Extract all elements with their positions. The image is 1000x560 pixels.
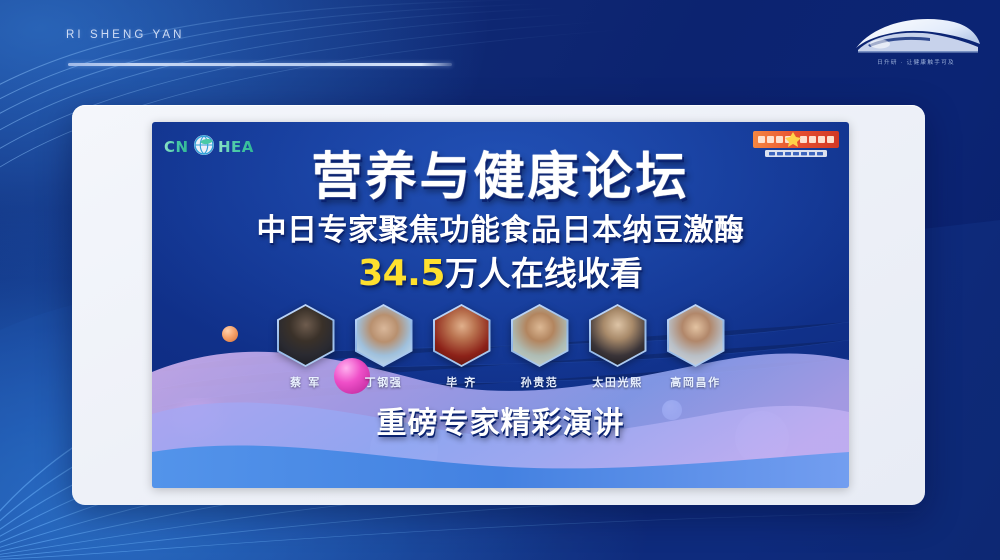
speaker-avatar [355, 304, 413, 367]
speaker-name: 毕 齐 [446, 374, 477, 390]
header-label: RI SHENG YAN [66, 29, 185, 41]
speaker-item: 蔡 军 [273, 304, 339, 390]
speaker-list: 蔡 军 丁钢强 毕 齐 [152, 304, 849, 390]
brand-logo-caption: 日升研 · 让健康触手可及 [850, 58, 982, 66]
header-divider-rule [68, 63, 452, 66]
speaker-name: 蔡 军 [290, 374, 321, 390]
speaker-name: 高岡昌作 [670, 374, 720, 390]
viewer-count-number: 34.5 [358, 253, 445, 294]
high-speed-train-icon [850, 14, 982, 60]
speaker-item: 毕 齐 [429, 304, 495, 390]
poster-viewer-stat: 34.5万人在线收看 [152, 256, 849, 292]
speaker-item: 太田光熙 [585, 304, 651, 390]
brand-logo: 日升研 · 让健康触手可及 [850, 14, 982, 68]
speaker-name: 太田光熙 [592, 374, 642, 390]
speaker-avatar [511, 304, 569, 367]
viewer-count-suffix: 万人在线收看 [445, 254, 643, 293]
speaker-avatar [433, 304, 491, 367]
poster-footer-text: 重磅专家精彩演讲 [152, 398, 849, 442]
poster-subtitle: 中日专家聚焦功能食品日本纳豆激酶 [152, 216, 849, 246]
speaker-item: 高岡昌作 [663, 304, 729, 390]
poster-title: 营养与健康论坛 [152, 152, 849, 203]
speaker-avatar [589, 304, 647, 367]
speaker-item: 丁钢强 [351, 304, 417, 390]
speaker-item: 孙贵范 [507, 304, 573, 390]
forum-poster: CN HEA [152, 122, 849, 488]
speaker-name: 丁钢强 [365, 374, 403, 390]
speaker-avatar [667, 304, 725, 367]
speaker-avatar [277, 304, 335, 367]
wave-layer-3 [152, 445, 849, 488]
speaker-name: 孙贵范 [521, 374, 559, 390]
content-card: CN HEA [72, 105, 925, 505]
slide-canvas: RI SHENG YAN 日升研 · 让健康触手可及 [0, 0, 1000, 560]
